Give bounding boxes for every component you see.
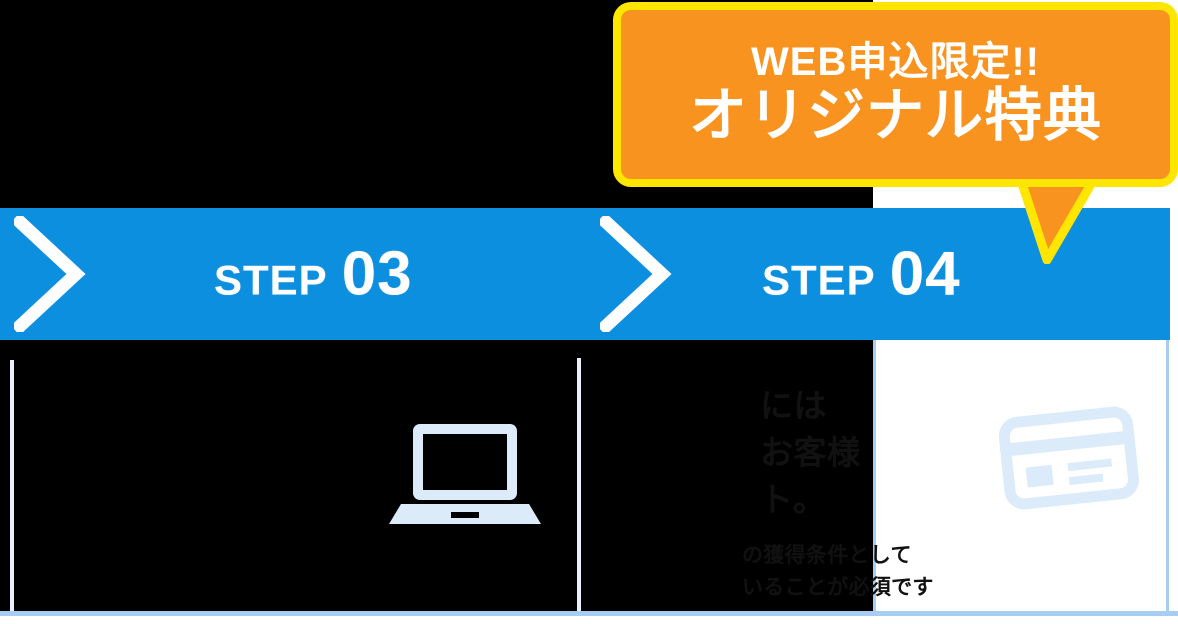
promo-bubble-body[interactable]: WEB申込限定!! オリジナル特典 — [613, 2, 1178, 187]
step04-note: の獲得条件として いることが必須です — [742, 540, 1142, 603]
divider-left — [10, 360, 14, 612]
step04-note-line-2: いることが必須です — [742, 572, 1142, 604]
step-03-number: 03 — [342, 240, 413, 309]
step04-headline-line-3: ト。 — [760, 477, 1120, 524]
laptop-icon — [385, 420, 545, 532]
promo-bubble-line-1: WEB申込限定!! — [751, 41, 1040, 83]
step04-headline-line-1: には — [760, 383, 1120, 430]
step-03-word: STEP — [214, 257, 328, 304]
screenshot-root: には お客様 ト。 の獲得条件として いることが必須です — [0, 0, 1178, 624]
divider-between-steps — [577, 358, 581, 612]
bottom-white-strip — [0, 616, 1178, 624]
chevron-right-icon — [14, 216, 86, 332]
step04-note-line-1: の獲得条件として — [742, 540, 1142, 572]
step04-headline-line-2: お客様 — [760, 430, 1120, 477]
promo-bubble-line-2: オリジナル特典 — [689, 85, 1102, 148]
step04-headline: には お客様 ト。 — [760, 383, 1120, 524]
promo-bubble[interactable]: WEB申込限定!! オリジナル特典 — [613, 2, 1178, 255]
step-03-segment[interactable]: STEP03 — [0, 208, 585, 340]
step-04-word: STEP — [762, 257, 876, 304]
step-03-label: STEP03 — [214, 239, 413, 310]
